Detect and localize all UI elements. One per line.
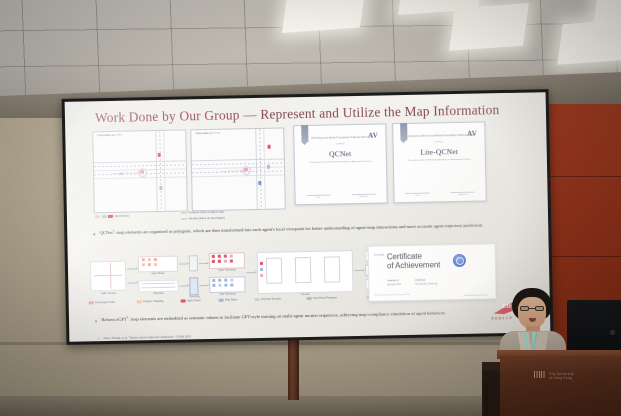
vehicle-marker <box>120 173 123 175</box>
pipeline-label: Tokenizing <box>185 296 205 298</box>
legend-label: Map Token <box>225 298 237 301</box>
certificate-description: Presented at the CVPR 2023 Workshop on A… <box>303 160 378 165</box>
tokenizer-block <box>189 277 198 295</box>
agent-token <box>212 255 215 258</box>
footnote-number: 2. <box>95 341 100 342</box>
ribbon-icon <box>400 123 407 140</box>
field-label: Challenge <box>415 278 438 283</box>
google-certificate-fields: Awarded to BehaviorGPT Challenge Sim Age… <box>387 277 487 287</box>
map-token <box>230 284 233 287</box>
pipeline-label: Agent States <box>138 273 178 276</box>
certificate-place: 1st Place <box>435 141 444 143</box>
legend-label: Agent Token <box>187 299 201 302</box>
agent-state-token <box>154 258 157 261</box>
map-caption: Observation at t = 0 s <box>97 134 122 137</box>
glasses-lens <box>520 306 529 311</box>
certificate-description: Presented at the CVPR 2023 Workshop on A… <box>402 158 477 163</box>
certificate-lite-qcnet: AV 2023 Argoverse Unified Sensor/Motion … <box>392 121 487 203</box>
certificate-place: 1st Place <box>336 143 345 145</box>
vehicle-marker <box>140 170 144 173</box>
pipeline-arrow-icon <box>246 272 256 273</box>
monitor-power-button[interactable] <box>610 330 615 335</box>
agent-state-token <box>142 258 145 261</box>
map-caption: Observation at t = 1 s <box>195 132 220 135</box>
slide-title-dash: — <box>243 107 257 122</box>
certificate-qcnet: AV 2023 Argoverse Motion Forecasting Cha… <box>293 123 388 205</box>
agent-token <box>212 260 215 263</box>
glasses-lens <box>535 306 544 311</box>
legend-entry: Attention Encoder <box>255 298 281 302</box>
certificate-signature: Signature <box>451 192 475 196</box>
legend-swatch-icon <box>101 215 106 218</box>
tokenizer-block <box>189 255 198 271</box>
road-segment <box>192 158 284 161</box>
legend-swatch-icon <box>137 301 142 304</box>
pipeline-label: Map Data <box>138 293 178 296</box>
agent-token <box>230 255 233 258</box>
pipeline-arrow-icon <box>179 263 188 264</box>
lane-divider <box>192 162 284 164</box>
map-visualization-row: Observation at t = 0 s <box>92 127 286 213</box>
certificate-header: 2023 Argoverse Unified Sensor/Motion For… <box>402 134 476 139</box>
legend-swatch-icon <box>181 300 186 303</box>
legend-label: Prediction (future of agent node) <box>188 211 224 215</box>
decoder-token <box>260 262 263 265</box>
certificate-date: Date <box>306 195 330 199</box>
bullet-dot-icon <box>93 233 95 235</box>
vehicle-marker <box>258 181 261 185</box>
decoder-token <box>260 274 263 277</box>
lane-divider <box>94 164 186 166</box>
bullet-text: BehaviorGPT2: map elements are embedded … <box>101 309 446 323</box>
certificate-date: Date <box>405 193 429 197</box>
bullet-point-behaviorgpt: BehaviorGPT2: map elements are embedded … <box>95 308 495 323</box>
podium: City University of Hong Kong <box>500 356 621 416</box>
decoder-layer <box>324 256 341 282</box>
legend-entry: Next-Patch Prediction <box>307 296 338 300</box>
agent-token <box>218 260 221 263</box>
field-label: Awarded to <box>387 279 401 283</box>
bullet-marker: BehaviorGPT <box>101 317 127 323</box>
projection-screen-frame: Work Done by Our Group — Represent and U… <box>62 89 554 345</box>
screen-stand-pole <box>288 336 299 400</box>
legend-swatch-icon <box>219 299 224 302</box>
field-value: BehaviorGPT <box>387 284 401 286</box>
legend-entry: Agent history <box>95 215 129 219</box>
legend-line-icon <box>181 218 187 219</box>
agent-state-token <box>148 258 151 261</box>
agent-token <box>224 260 227 263</box>
map-token <box>224 284 227 287</box>
slide-title-sub: Represent and Utilize the Map Informatio… <box>260 102 499 122</box>
legend-label: Position / Heading <box>143 300 163 303</box>
legend-label: Focal Agent State <box>95 301 115 304</box>
map-token <box>218 284 221 287</box>
map-panel-t0: Observation at t = 0 s <box>92 129 188 213</box>
pipeline-label: Traffic Scenario <box>90 293 126 296</box>
certificate-header: 2023 Argoverse Motion Forecasting Challe… <box>311 136 368 141</box>
map-token <box>212 279 215 282</box>
legend-label: Attention Encoder <box>261 298 281 301</box>
lane-divider <box>259 129 261 209</box>
road-segment <box>94 160 186 163</box>
vehicle-marker <box>159 186 162 190</box>
conference-room-scene: Work Done by Our Group — Represent and U… <box>0 0 621 416</box>
pipeline-stage-box <box>90 261 127 292</box>
certificate-title: Lite-QCNet <box>420 147 458 157</box>
road-segment <box>155 131 158 211</box>
pipeline-label: Map Tokenizing <box>210 293 246 296</box>
google-certificate-title: Certificate of Achievement <box>387 251 441 271</box>
podium-logo: City University of Hong Kong <box>534 370 578 379</box>
certificate-field: Awarded to BehaviorGPT <box>387 279 401 288</box>
av-logo-icon: AV <box>467 130 477 138</box>
decoder-layer <box>295 257 312 283</box>
legend-label: Agent history <box>114 215 129 218</box>
map-token <box>212 284 215 287</box>
legend-entry: Attention (future of map polygon) <box>181 217 225 221</box>
pipeline-label: Agent Tokenizing <box>209 269 245 272</box>
legend-swatch-icon <box>307 297 312 300</box>
legend-entry: Agent Token <box>181 299 201 302</box>
glasses-bridge <box>529 308 535 309</box>
map-token <box>218 279 221 282</box>
legend-entry: Position / Heading <box>137 300 164 304</box>
ceiling-light-panel <box>594 0 621 22</box>
certificate-title-line2: of Achievement <box>387 261 440 272</box>
legend-label: Attention (future of map polygon) <box>188 217 224 221</box>
vehicle-marker <box>268 145 271 149</box>
panel-seam <box>545 176 621 177</box>
decoder-layer <box>266 258 283 284</box>
road-segment <box>163 131 165 211</box>
legend-entry: Prediction (future of agent node) <box>181 211 224 215</box>
ceiling-light-panel <box>449 3 529 51</box>
legend-swatch-icon <box>108 215 113 218</box>
panel-seam <box>545 256 621 257</box>
pipeline-arrow-icon <box>127 268 137 269</box>
vehicle-marker <box>267 165 270 169</box>
bullet-dot-icon <box>95 320 97 322</box>
bullet-body: : map elements are embedded as semantic … <box>128 310 446 321</box>
road-segment <box>192 174 284 176</box>
lane-divider <box>159 131 161 211</box>
av-logo-icon: AV <box>368 132 378 140</box>
podium-logo-text: City University of Hong Kong <box>549 372 578 380</box>
road-segment <box>263 129 265 209</box>
agent-token <box>230 260 233 263</box>
map-token <box>230 279 233 282</box>
agent-state-token <box>154 263 157 266</box>
agent-state-token <box>142 263 145 266</box>
pipeline-arrow-icon <box>354 270 364 271</box>
map-panel-t1: Observation at t = 1 s <box>190 127 286 211</box>
legend-swatch-icon <box>255 298 260 301</box>
legend-swatch-icon <box>95 215 100 218</box>
google-certificate-of-achievement: Google Certificate of Achievement Awarde… <box>368 243 497 302</box>
certificate-footer: Date Signature <box>395 191 486 197</box>
certificate-title: QCNet <box>329 149 351 158</box>
legend-entry: Focal Agent State <box>89 301 115 305</box>
decoder-token <box>260 268 263 271</box>
google-logo-icon: Google <box>374 252 385 256</box>
presentation-slide: Work Done by Our Group — Represent and U… <box>65 92 551 342</box>
ceiling-light-panel <box>557 19 621 64</box>
map-legend: Agent history Prediction (future of agen… <box>95 211 285 227</box>
legend-entry: Map Token <box>219 298 238 301</box>
legend-swatch-icon <box>89 302 94 305</box>
winner-seal-icon <box>453 254 466 267</box>
road-segment <box>255 129 258 209</box>
vehicle-marker <box>158 153 161 157</box>
legend-line-icon <box>181 212 187 213</box>
pipeline-arrow-icon <box>199 263 208 264</box>
vehicle-marker <box>244 168 248 171</box>
agent-token <box>218 255 221 258</box>
certificate-signature: Signature <box>352 194 376 198</box>
glasses-icon <box>519 306 545 311</box>
agent-state-token <box>148 263 151 266</box>
chair-leg <box>485 382 488 416</box>
slide-title-main: Work Done by Our Group <box>95 107 240 125</box>
podium-logo-mark-icon <box>534 371 546 378</box>
ribbon-icon <box>301 125 308 142</box>
presenter-face <box>518 297 546 329</box>
map-token <box>224 279 227 282</box>
field-value: Sim Agents Challenge <box>415 284 438 286</box>
projection-screen: Work Done by Our Group — Represent and U… <box>65 92 551 342</box>
road-segment <box>192 166 284 168</box>
signature-line <box>464 294 488 295</box>
pipeline-arrow-icon <box>199 285 208 286</box>
certificate-footer: Date Signature <box>296 193 387 199</box>
google-certificate-footer: Waymo Open Dataset Challenges 2024 <box>375 294 410 297</box>
bullet-marker: QCNet <box>100 230 113 235</box>
legend-label: Next-Patch Prediction <box>313 296 337 299</box>
certificate-field: Challenge Sim Agents Challenge <box>415 278 438 287</box>
award-certificates-row: AV 2023 Argoverse Motion Forecasting Cha… <box>293 121 487 205</box>
agent-token <box>224 255 227 258</box>
pipeline-arrow-icon <box>179 285 188 286</box>
pipeline-arrow-icon <box>127 282 137 283</box>
